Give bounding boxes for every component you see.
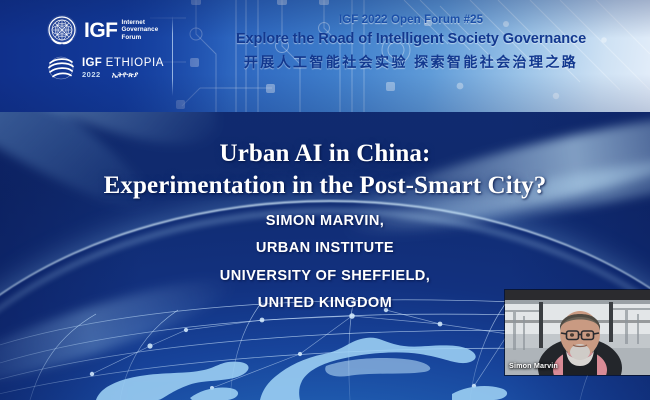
participant-video-tile[interactable]: Simon Marvin xyxy=(505,290,650,375)
igf-subtext: Internet Governance Forum xyxy=(122,19,159,42)
participant-name-label: Simon Marvin xyxy=(509,361,558,370)
igf-ethiopia-logo: IGF ETHIOPIA 2022 ኢትዮጵያ xyxy=(46,55,166,81)
presenter-university: UNIVERSITY OF SHEFFIELD, xyxy=(0,263,650,290)
igf-wordmark: IGF Internet Governance Forum xyxy=(84,19,158,42)
ethiopia-wordmark: IGF ETHIOPIA 2022 ኢትዮጵያ xyxy=(82,58,164,79)
igf-mark: IGF xyxy=(84,20,118,41)
forum-title-en: Explore the Road of Intelligent Society … xyxy=(180,30,642,50)
ethiopia-globe-icon xyxy=(46,55,76,81)
presenter-institute: URBAN INSTITUTE xyxy=(0,235,650,262)
header-divider xyxy=(172,16,173,96)
presenter-name: SIMON MARVIN, xyxy=(0,208,650,235)
slide-title-line2: Experimentation in the Post-Smart City? xyxy=(0,170,650,202)
logo-group: IGF Internet Governance Forum xyxy=(46,14,166,81)
slide-title: Urban AI in China: Experimentation in th… xyxy=(0,138,650,202)
igf-sub-line1: Internet xyxy=(122,19,146,26)
forum-supertitle: IGF 2022 Open Forum #25 xyxy=(180,13,642,27)
presentation-slide: IGF Internet Governance Forum xyxy=(0,0,650,400)
forum-title-zh: 开展人工智能社会实验 探索智能社会治理之路 xyxy=(180,53,642,72)
slide-title-line1: Urban AI in China: xyxy=(0,138,650,170)
header-text-group: IGF 2022 Open Forum #25 Explore the Road… xyxy=(180,13,642,72)
un-emblem-icon xyxy=(46,14,78,46)
ethiopia-sub-row: 2022 ኢትዮጵያ xyxy=(82,71,164,79)
igf-sub-line3: Forum xyxy=(122,34,142,41)
ethiopia-mark-row: IGF ETHIOPIA xyxy=(82,58,164,70)
ethiopia-mark-bold: IGF xyxy=(82,57,102,69)
igf-logo: IGF Internet Governance Forum xyxy=(46,14,166,46)
igf-sub-line2: Governance xyxy=(122,26,159,33)
ethiopia-amharic: ኢትዮጵያ xyxy=(112,71,139,79)
ethiopia-mark-thin: ETHIOPIA xyxy=(106,57,164,69)
ethiopia-year: 2022 xyxy=(82,71,101,79)
